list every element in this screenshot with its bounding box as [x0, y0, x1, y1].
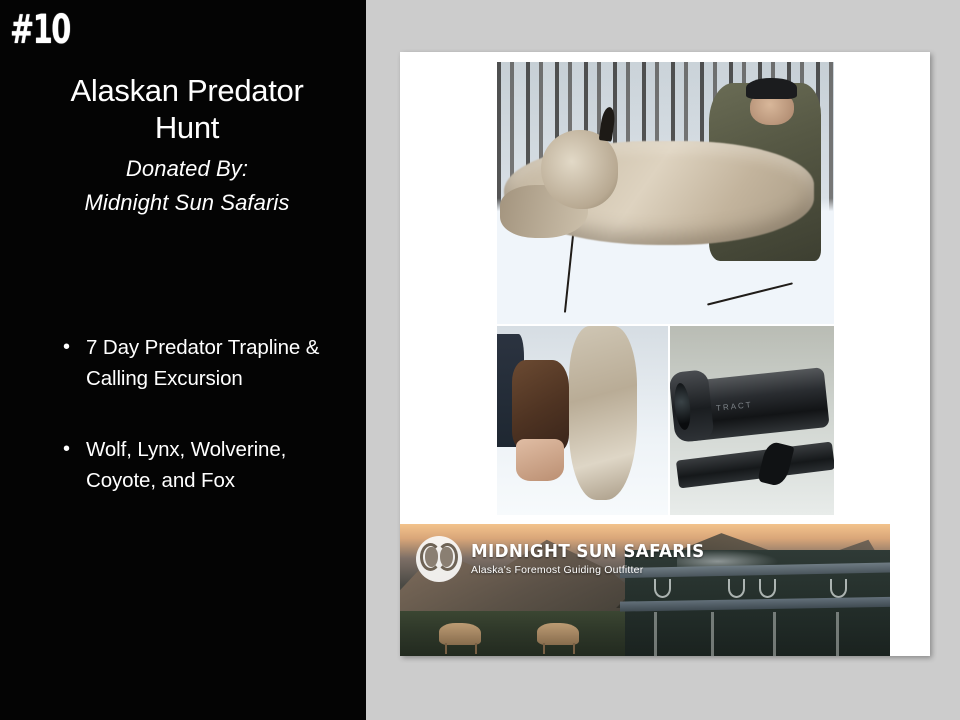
lodge-porch-roof [620, 596, 890, 611]
antler-mount-icon [830, 579, 847, 598]
bullet-dot-icon: • [63, 332, 70, 363]
page-title-line-2: Hunt [155, 110, 219, 145]
bullet-dot-icon: • [63, 434, 70, 465]
antler-mount-icon [728, 579, 745, 598]
list-item: • Wolf, Lynx, Wolverine, Coyote, and Fox [58, 434, 340, 496]
porch-post [711, 612, 714, 656]
list-item-text: 7 Day Predator Trapline & Calling Excurs… [86, 336, 319, 390]
slide-left-panel: #10 Alaskan Predator Hunt Donated By: Mi… [0, 0, 366, 720]
brand-name: MIDNIGHT SUN SAFARIS [471, 542, 705, 562]
dall-sheep-badge-icon [416, 536, 462, 582]
photo-collage: TRACT [497, 62, 834, 515]
donated-by-label: Donated By: [22, 152, 352, 186]
lynx-head [541, 130, 619, 209]
list-item-text: Wolf, Lynx, Wolverine, Coyote, and Fox [86, 438, 286, 492]
bullet-list: • 7 Day Predator Trapline & Calling Excu… [58, 332, 340, 496]
lynx-leg-fur [569, 326, 637, 500]
rifle-bolt-handle [757, 440, 794, 487]
porch-post [773, 612, 776, 656]
photo-card: TRACT [400, 52, 930, 656]
pack-horse [439, 623, 481, 645]
ram-head-icon [425, 547, 438, 567]
pack-horse [537, 623, 579, 645]
page-title-line-1: Alaskan Predator [71, 73, 304, 108]
ram-head-icon [440, 547, 453, 567]
rifle-scope-photo: TRACT [670, 326, 834, 515]
brand-text-block: MIDNIGHT SUN SAFARIS Alaska's Foremost G… [471, 542, 722, 577]
fingerless-glove [512, 360, 568, 451]
midnight-sun-safaris-banner: MIDNIGHT SUN SAFARIS Alaska's Foremost G… [400, 524, 890, 656]
hand-fingers [516, 439, 564, 481]
porch-post [654, 612, 657, 656]
lynx-paw-size-photo [497, 326, 668, 515]
porch-post [836, 612, 839, 656]
branch-shape [707, 282, 792, 305]
brand-tagline: Alaska's Foremost Guiding Outfitter [471, 563, 722, 577]
page-title: Alaskan Predator Hunt [22, 72, 352, 146]
rifle-barrel [675, 441, 834, 488]
donor-name: Midnight Sun Safaris [22, 186, 352, 220]
lynx-ear-tuft [599, 106, 617, 142]
hunter-hat [746, 78, 797, 99]
list-item: • 7 Day Predator Trapline & Calling Excu… [58, 332, 340, 394]
brand-logo-lockup: MIDNIGHT SUN SAFARIS Alaska's Foremost G… [416, 536, 722, 582]
lynx-trophy-photo [497, 62, 834, 324]
antler-mount-icon [759, 579, 776, 598]
title-block: Alaskan Predator Hunt Donated By: Midnig… [22, 72, 352, 220]
lot-number-badge: #10 [10, 8, 70, 52]
